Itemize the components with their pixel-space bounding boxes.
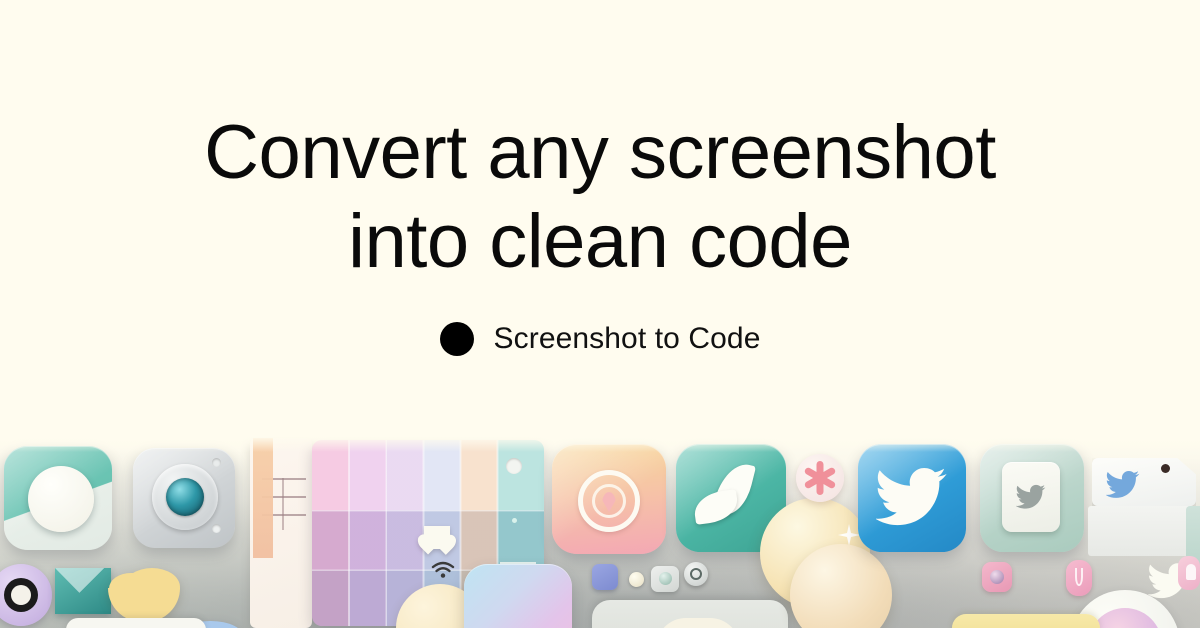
wifi-icon	[430, 560, 456, 580]
brand-name: Screenshot to Code	[494, 322, 761, 356]
black-circle-logo-icon	[440, 322, 474, 356]
camera-lens-icon	[166, 478, 204, 516]
camera-dot-top-icon	[212, 458, 221, 467]
pink-pill-icon-3-glyph	[1186, 564, 1196, 580]
small-blue-square	[592, 564, 618, 590]
yellow-bar	[952, 614, 1100, 628]
swatch-panel-led-icon	[512, 518, 517, 523]
mint-tile-bird-glyph-icon	[1016, 484, 1046, 510]
camera-dot-bottom-icon	[212, 524, 221, 533]
pink-asterisk-icon	[800, 458, 840, 498]
white-card-bird-glyph-icon	[1106, 470, 1140, 498]
twitter-bird-icon	[876, 466, 948, 528]
brand-row: Screenshot to Code	[0, 322, 1200, 356]
pink-pill-icon-2-glyph	[1075, 568, 1083, 586]
swatch-panel-knob-icon	[506, 458, 522, 474]
sketch-divider	[282, 478, 284, 530]
small-cream-dot	[629, 572, 644, 587]
gradient-heart-tile	[464, 564, 572, 628]
illustration-strip	[0, 436, 1200, 628]
small-gray-tile-lens-icon	[659, 572, 672, 585]
sparkle-icon	[838, 524, 860, 546]
lavender-ring-core	[11, 585, 31, 605]
yellow-cloud	[108, 588, 180, 622]
page-title: Convert any screenshot into clean code	[0, 108, 1200, 286]
small-ring-icon-core	[690, 568, 702, 580]
white-card-dot-icon	[1161, 464, 1170, 473]
swatch-heart-icon	[424, 526, 450, 549]
white-panel-bottom-left	[66, 618, 206, 628]
peach-strip	[253, 438, 273, 558]
white-card-base	[1088, 506, 1200, 556]
pink-pill-icon-1-lens	[990, 570, 1004, 584]
og-banner: Convert any screenshot into clean code S…	[0, 0, 1200, 628]
hero-text-block: Convert any screenshot into clean code S…	[0, 0, 1200, 356]
teal-tile-white-circle	[28, 466, 94, 532]
